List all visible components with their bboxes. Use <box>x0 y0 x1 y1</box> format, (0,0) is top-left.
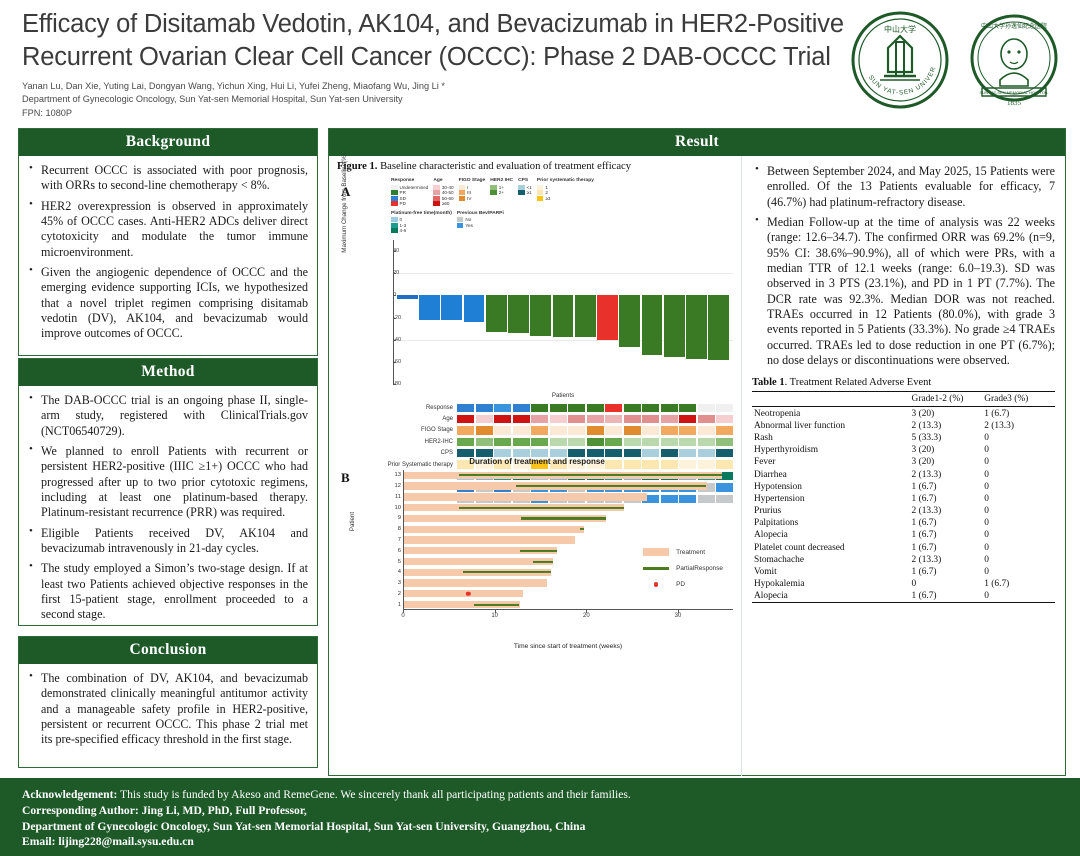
svg-text:中山大学: 中山大学 <box>884 24 916 34</box>
list-item: Recurrent OCCC is associated with poor p… <box>26 163 308 194</box>
legend-item: 2 <box>537 190 594 195</box>
table-row: Rash5 (33.3)0 <box>752 432 1055 444</box>
swimmer-row: 11 <box>404 493 733 500</box>
table-row: Platelet count decreased1 (6.7)0 <box>752 542 1055 554</box>
list-item: The combination of DV, AK104, and bevaci… <box>26 671 308 748</box>
legend-row-2: Platinum-free time(month)01-34-6Previous… <box>391 211 735 234</box>
result-heading: Result <box>329 129 1065 156</box>
swimmer-x-axis-label: Time since start of treatment (weeks) <box>403 643 733 650</box>
adverse-event-name: Diarrhea <box>752 468 910 480</box>
heatmap-cell <box>476 426 493 434</box>
legend-label: PartialResponse <box>676 565 723 572</box>
grade3-value: 0 <box>982 542 1055 554</box>
figure-legend: ResponseUndeterminedPRSDPDAge30-4040-505… <box>391 178 735 234</box>
swimmer-chart-title: Duration of treatment and response <box>335 457 739 466</box>
grade12-value: 3 (20) <box>910 407 983 420</box>
heatmap-cell <box>605 404 622 412</box>
heatmap-row-label: Age <box>375 416 457 422</box>
heatmap-cell <box>605 426 622 434</box>
column-header-grade12: Grade1-2 (%) <box>910 392 983 407</box>
waterfall-bar-slot <box>575 240 596 384</box>
grade12-value: 2 (13.3) <box>910 468 983 480</box>
adverse-event-name: Stomachache <box>752 554 910 566</box>
legend-swatch-icon <box>391 185 398 190</box>
legend-swatch-icon <box>391 196 398 201</box>
legend-label: 50-60 <box>442 196 454 201</box>
heatmap-cell <box>568 426 585 434</box>
legend-swatch-icon <box>518 185 525 190</box>
grade12-value: 1 (6.7) <box>910 566 983 578</box>
partial-response-bar <box>521 517 605 519</box>
grade12-value: 5 (33.3) <box>910 432 983 444</box>
fpn-number: FPN: 1080P <box>22 107 722 120</box>
legend-label: PD <box>400 201 406 206</box>
grade3-value: 0 <box>982 505 1055 517</box>
adverse-event-name: Alopecia <box>752 590 910 603</box>
legend-label: 0 <box>400 217 403 222</box>
grade3-value: 0 <box>982 456 1055 468</box>
waterfall-bar <box>575 295 596 337</box>
legend-label: ≥60 <box>442 201 450 206</box>
legend-label: PD <box>676 581 685 588</box>
grade3-value: 0 <box>982 566 1055 578</box>
legend-item: 30-40 <box>433 185 453 190</box>
legend-item: ≥3 <box>537 196 594 201</box>
treatment-bar <box>404 590 523 597</box>
poster-header: Efficacy of Disitamab Vedotin, AK104, an… <box>0 0 1080 120</box>
heatmap-cell <box>698 415 715 423</box>
legend-item: PD <box>391 201 428 206</box>
contact-email: Email: lijing228@mail.sysu.edu.cn <box>22 834 1080 850</box>
heatmap-cells <box>457 404 733 412</box>
legend-swatch-icon <box>433 201 440 206</box>
legend-label: 30-40 <box>442 185 454 190</box>
waterfall-bar <box>464 295 485 322</box>
acknowledgement-label: Acknowledgement: <box>22 788 117 801</box>
waterfall-bar <box>419 295 440 319</box>
table-row: Palpitations1 (6.7)0 <box>752 517 1055 529</box>
waterfall-bar <box>530 295 551 336</box>
legend-swatch-icon <box>433 190 440 195</box>
grade12-value: 2 (13.3) <box>910 505 983 517</box>
legend-item: 1-3 <box>391 223 452 228</box>
heatmap-cell <box>698 426 715 434</box>
adverse-event-name: Palpitations <box>752 517 910 529</box>
legend-label: Undetermined <box>400 185 429 190</box>
legend-label: Yes <box>465 223 473 228</box>
poster-footer: Acknowledgement: This study is funded by… <box>0 778 1080 856</box>
method-bullet-list: The DAB-OCCC trial is an ongoing phase I… <box>26 393 308 623</box>
grade12-value: 3 (20) <box>910 456 983 468</box>
legend-label: 1+ <box>499 185 504 190</box>
adverse-event-name: Vomit <box>752 566 910 578</box>
author-block: Yanan Lu, Dan Xie, Yuting Lai, Dongyan W… <box>22 80 722 120</box>
corresponding-author: Corresponding Author: Jing Li, MD, PhD, … <box>22 803 1080 819</box>
swimmer-row: 9 <box>404 515 733 522</box>
grade3-value: 0 <box>982 517 1055 529</box>
legend-item: ≥60 <box>433 201 453 206</box>
legend-group-title: Response <box>391 178 428 183</box>
heatmap-cell <box>624 438 641 446</box>
grade12-value: 1 (6.7) <box>910 493 983 505</box>
legend-item: PR <box>391 190 428 195</box>
legend-item: 1 <box>537 185 594 190</box>
heatmap-cell <box>679 426 696 434</box>
waterfall-bar <box>486 295 507 332</box>
figure-column: Figure 1. Baseline characteristic and ev… <box>329 156 741 776</box>
list-item: The study employed a Simon’s two-stage d… <box>26 561 308 622</box>
heatmap-cells <box>457 426 733 434</box>
adverse-event-name: Rash <box>752 432 910 444</box>
waterfall-bar <box>441 295 462 319</box>
waterfall-bar-slot <box>597 240 618 384</box>
adverse-event-name: Hypokalemia <box>752 578 910 590</box>
heatmap-cell <box>624 404 641 412</box>
legend-item-pd: PD <box>643 581 723 588</box>
list-item: Between September 2024, and May 2025, 15… <box>752 164 1055 210</box>
heatmap-cell <box>679 404 696 412</box>
result-bullet-list: Between September 2024, and May 2025, 15… <box>752 164 1055 368</box>
legend-item: 4-6 <box>391 228 452 233</box>
legend-item: IV <box>459 196 486 201</box>
heatmap-cell <box>550 404 567 412</box>
legend-item: 1+ <box>490 185 513 190</box>
table-row: Vomit1 (6.7)0 <box>752 566 1055 578</box>
grade12-value: 2 (13.3) <box>910 420 983 432</box>
table-row: Stomachache2 (13.3)0 <box>752 554 1055 566</box>
heatmap-cell <box>661 404 678 412</box>
table-title: Table 1. Treatment Related Adverse Event <box>752 377 1055 388</box>
background-bullet-list: Recurrent OCCC is associated with poor p… <box>26 163 308 342</box>
list-item: Given the angiogenic dependence of OCCC … <box>26 265 308 342</box>
swimmer-y-tick-label: 12 <box>395 483 404 489</box>
waterfall-bar-slot <box>664 240 685 384</box>
legend-label: III <box>467 190 471 195</box>
legend-group: CPS<1≥1 <box>518 178 532 207</box>
grade12-value: 0 <box>910 578 983 590</box>
grade3-value: 0 <box>982 481 1055 493</box>
heatmap-cell <box>716 438 733 446</box>
grade12-value: 1 (6.7) <box>910 481 983 493</box>
list-item: Eligible Patients received DV, AK104 and… <box>26 526 308 557</box>
svg-text:SUN YAT-SEN UNIVERSITY: SUN YAT-SEN UNIVERSITY <box>850 10 938 97</box>
legend-item: No <box>457 217 504 222</box>
grade3-value: 0 <box>982 444 1055 456</box>
legend-swatch-icon <box>391 217 398 222</box>
legend-label: 1 <box>545 185 548 190</box>
swimmer-y-tick-label: 13 <box>395 472 404 478</box>
conclusion-section: Conclusion The combination of DV, AK104,… <box>18 636 318 768</box>
table-row: Diarrhea2 (13.3)0 <box>752 468 1055 480</box>
treatment-bar <box>404 558 553 565</box>
waterfall-bar <box>642 295 663 355</box>
legend-label: 2 <box>545 190 548 195</box>
heatmap-cell <box>587 438 604 446</box>
swimmer-y-axis-label: Patient <box>349 512 356 531</box>
x-axis-tick-mark <box>586 610 587 613</box>
legend-item: 2+ <box>490 190 513 195</box>
swimmer-row: 10 <box>404 504 733 511</box>
legend-item: ≥1 <box>518 190 532 195</box>
heatmap-cell <box>661 438 678 446</box>
heatmap-cell <box>661 415 678 423</box>
column-header-grade3: Grade3 (%) <box>982 392 1055 407</box>
grade3-value: 0 <box>982 529 1055 541</box>
waterfall-bar-slot <box>441 240 462 384</box>
swimmer-row: 8 <box>404 526 733 533</box>
svg-text:中山大学孙逸仙纪念医院: 中山大学孙逸仙纪念医院 <box>981 22 1047 30</box>
waterfall-bar-slot <box>686 240 707 384</box>
heatmap-cell <box>679 438 696 446</box>
heatmap-row-label: FIGO Stage <box>375 427 457 433</box>
heatmap-cell <box>568 438 585 446</box>
legend-swatch-icon <box>518 190 525 195</box>
partial-response-bar <box>459 474 722 476</box>
heatmap-cell <box>550 426 567 434</box>
heatmap-cell <box>661 426 678 434</box>
result-section: Result Figure 1. Baseline characteristic… <box>328 128 1066 776</box>
table-title-bold: Table 1 <box>752 377 785 388</box>
legend-group: ResponseUndeterminedPRSDPD <box>391 178 428 207</box>
heatmap-cell <box>513 438 530 446</box>
legend-item: Undetermined <box>391 185 428 190</box>
heatmap-cell <box>642 438 659 446</box>
waterfall-bar <box>553 295 574 337</box>
waterfall-plot-area <box>393 240 733 384</box>
y-axis-tick-mark <box>393 273 396 274</box>
heatmap-cell <box>494 415 511 423</box>
legend-row-1: ResponseUndeterminedPRSDPDAge30-4040-505… <box>391 178 735 207</box>
method-heading: Method <box>19 359 317 386</box>
adverse-event-name: Platelet count decreased <box>752 542 910 554</box>
heatmap-cell <box>642 404 659 412</box>
legend-swatch-icon <box>459 196 466 201</box>
grade12-value: 1 (6.7) <box>910 590 983 603</box>
waterfall-bar-slot <box>708 240 729 384</box>
grade12-value: 3 (20) <box>910 444 983 456</box>
legend-swatch-icon <box>459 190 466 195</box>
waterfall-bar <box>686 295 707 358</box>
table-row: Hyperthyroidism3 (20)0 <box>752 444 1055 456</box>
legend-label: Treatment <box>676 549 705 556</box>
partial-response-bar <box>474 604 520 606</box>
sun-yat-sen-university-seal-icon: 中山大学 SUN YAT-SEN UNIVERSITY <box>850 10 950 110</box>
heatmap-cell <box>531 415 548 423</box>
heatmap-cell <box>716 404 733 412</box>
x-axis-tick-mark <box>678 610 679 613</box>
legend-swatch-icon <box>391 223 398 228</box>
swimmer-y-tick-label: 11 <box>395 494 404 500</box>
legend-group: Platinum-free time(month)01-34-6 <box>391 211 452 234</box>
table-row: Hypertension1 (6.7)0 <box>752 493 1055 505</box>
waterfall-bar-slot <box>419 240 440 384</box>
author-list: Yanan Lu, Dan Xie, Yuting Lai, Dongyan W… <box>22 80 722 93</box>
waterfall-bar-slot <box>486 240 507 384</box>
grade12-value: 1 (6.7) <box>910 542 983 554</box>
waterfall-bar-slot <box>508 240 529 384</box>
affiliation: Department of Gynecologic Oncology, Sun … <box>22 93 722 106</box>
legend-item: III <box>459 190 486 195</box>
y-axis-tick-mark <box>393 340 396 341</box>
partial-response-swatch-icon <box>643 567 669 569</box>
table-row: Neotropenia3 (20)1 (6.7) <box>752 407 1055 420</box>
waterfall-bar-slot <box>464 240 485 384</box>
conclusion-heading: Conclusion <box>19 637 317 664</box>
acknowledgement-text: This study is funded by Akeso and RemeGe… <box>117 788 630 801</box>
heatmap-cell <box>587 404 604 412</box>
legend-item: 50-60 <box>433 196 453 201</box>
sun-yat-sen-memorial-hospital-seal-icon: 中山大学孙逸仙纪念医院 SUN YAT-SEN MEMORIAL HOSPITA… <box>962 10 1066 110</box>
legend-item: <1 <box>518 185 532 190</box>
legend-group: HER2 IHC1+2+ <box>490 178 513 207</box>
swimmer-x-axis <box>403 609 733 610</box>
waterfall-y-axis-label: Maximum Change from Baseline(%) <box>341 144 348 262</box>
heatmap-cell <box>716 426 733 434</box>
legend-item: 40-50 <box>433 190 453 195</box>
heatmap-row: Age <box>375 413 733 424</box>
grade3-value: 0 <box>982 432 1055 444</box>
legend-item-partial-response: PartialResponse <box>643 565 723 572</box>
legend-group-title: HER2 IHC <box>490 178 513 183</box>
heatmap-cell <box>476 415 493 423</box>
grade12-value: 1 (6.7) <box>910 517 983 529</box>
legend-label: 1-3 <box>400 223 407 228</box>
x-axis-tick-mark <box>403 610 404 613</box>
waterfall-bar-slot <box>642 240 663 384</box>
column-header-event <box>752 392 910 407</box>
legend-label: IV <box>467 196 471 201</box>
heatmap-cell <box>457 404 474 412</box>
treatment-bar <box>404 536 575 543</box>
seal-year: 1835 <box>1007 99 1022 107</box>
heatmap-cell <box>476 404 493 412</box>
heatmap-cell <box>457 438 474 446</box>
heatmap-cell <box>513 404 530 412</box>
heatmap-cell <box>587 426 604 434</box>
grade12-value: 1 (6.7) <box>910 529 983 541</box>
logo-group: 中山大学 SUN YAT-SEN UNIVERSITY 中山大学孙逸仙纪念医院 … <box>850 8 1070 112</box>
heatmap-cell <box>550 438 567 446</box>
list-item: We planned to enroll Patients with recur… <box>26 444 308 521</box>
legend-label: No <box>465 217 471 222</box>
legend-group-title: Previous Bev/PARPi <box>457 211 504 216</box>
heatmap-row: FIGO Stage <box>375 425 733 436</box>
waterfall-bar-slot <box>553 240 574 384</box>
legend-label: I <box>467 185 468 190</box>
y-axis-tick-mark <box>393 295 396 296</box>
heatmap-cell <box>457 426 474 434</box>
legend-group: Previous Bev/PARPiNoYes <box>457 211 504 234</box>
swimmer-plot-area: 12345678910111213 0102030 Treatment Part… <box>403 470 733 610</box>
heatmap-cell <box>568 415 585 423</box>
partial-response-bar <box>463 571 551 573</box>
adverse-event-name: Abnormal liver function <box>752 420 910 432</box>
heatmap-cell <box>494 404 511 412</box>
y-axis-tick-mark <box>393 318 396 319</box>
background-heading: Background <box>19 129 317 156</box>
y-axis-tick-mark <box>393 384 396 385</box>
heatmap-cell <box>679 415 696 423</box>
legend-swatch-icon <box>537 185 544 190</box>
grade3-value: 0 <box>982 468 1055 480</box>
treatment-bar <box>404 526 584 533</box>
heatmap-cell <box>624 415 641 423</box>
heatmap-cell <box>494 426 511 434</box>
waterfall-bars <box>393 240 733 384</box>
table-row: Alopecia1 (6.7)0 <box>752 590 1055 603</box>
figure-panel-b: B Duration of treatment and response Pat… <box>335 456 739 648</box>
heatmap-cell <box>642 426 659 434</box>
treatment-swatch-icon <box>643 548 669 556</box>
partial-response-bar <box>459 507 624 509</box>
svg-text:SUN YAT-SEN MEMORIAL HOSPITAL: SUN YAT-SEN MEMORIAL HOSPITAL <box>980 90 1050 95</box>
legend-group-title: Platinum-free time(month) <box>391 211 452 216</box>
legend-group-title: Prior systematic therapy <box>537 178 594 183</box>
adverse-event-name: Neotropenia <box>752 407 910 420</box>
waterfall-chart: Maximum Change from Baseline(%) 40200-20… <box>375 240 733 400</box>
heatmap-cell <box>587 415 604 423</box>
legend-group: Age30-4040-5050-60≥60 <box>433 178 453 207</box>
heatmap-cell <box>605 438 622 446</box>
heatmap-cell <box>698 438 715 446</box>
waterfall-bar-slot <box>530 240 551 384</box>
list-item: HER2 overexpression is observed in appro… <box>26 199 308 260</box>
legend-swatch-icon <box>490 185 497 190</box>
heatmap-cell <box>513 426 530 434</box>
grade3-value: 1 (6.7) <box>982 578 1055 590</box>
waterfall-bar <box>708 295 729 359</box>
table-row: Hypotension1 (6.7)0 <box>752 481 1055 493</box>
waterfall-x-axis-label: Patients <box>393 392 733 399</box>
legend-group: Prior systematic therapy12≥3 <box>537 178 594 207</box>
grade3-value: 0 <box>982 590 1055 603</box>
grade3-value: 0 <box>982 554 1055 566</box>
heatmap-cell <box>698 404 715 412</box>
heatmap-cells <box>457 438 733 446</box>
legend-swatch-icon <box>537 190 544 195</box>
legend-label: SD <box>400 196 406 201</box>
table-row: Abnormal liver function2 (13.3)2 (13.3) <box>752 420 1055 432</box>
legend-label: PR <box>400 190 406 195</box>
heatmap-cell <box>550 415 567 423</box>
legend-swatch-icon <box>391 201 398 206</box>
legend-label: <1 <box>527 185 532 190</box>
heatmap-cell <box>642 415 659 423</box>
legend-label: 4-6 <box>400 228 407 233</box>
adverse-event-name: Hypertension <box>752 493 910 505</box>
heatmap-row: HER2-IHC <box>375 436 733 447</box>
heatmap-cell <box>531 426 548 434</box>
heatmap-cells <box>457 415 733 423</box>
panel-label-b: B <box>341 470 350 486</box>
grade3-value: 2 (13.3) <box>982 420 1055 432</box>
adverse-events-table: Grade1-2 (%) Grade3 (%) Neotropenia3 (20… <box>752 391 1055 603</box>
table-title-rest: . Treatment Related Adverse Event <box>785 377 932 388</box>
table-row: Prurius2 (13.3)0 <box>752 505 1055 517</box>
legend-item: 0 <box>391 217 452 222</box>
x-axis-tick-mark <box>495 610 496 613</box>
legend-swatch-icon <box>490 190 497 195</box>
heatmap-cell <box>568 404 585 412</box>
legend-label: 40-50 <box>442 190 454 195</box>
waterfall-bar <box>619 295 640 347</box>
legend-swatch-icon <box>457 223 464 228</box>
legend-swatch-icon <box>391 190 398 195</box>
table-row: Hypokalemia01 (6.7) <box>752 578 1055 590</box>
heatmap-cell <box>476 438 493 446</box>
legend-group: FIGO StageIIIIIV <box>459 178 486 207</box>
partial-response-bar <box>533 560 553 562</box>
